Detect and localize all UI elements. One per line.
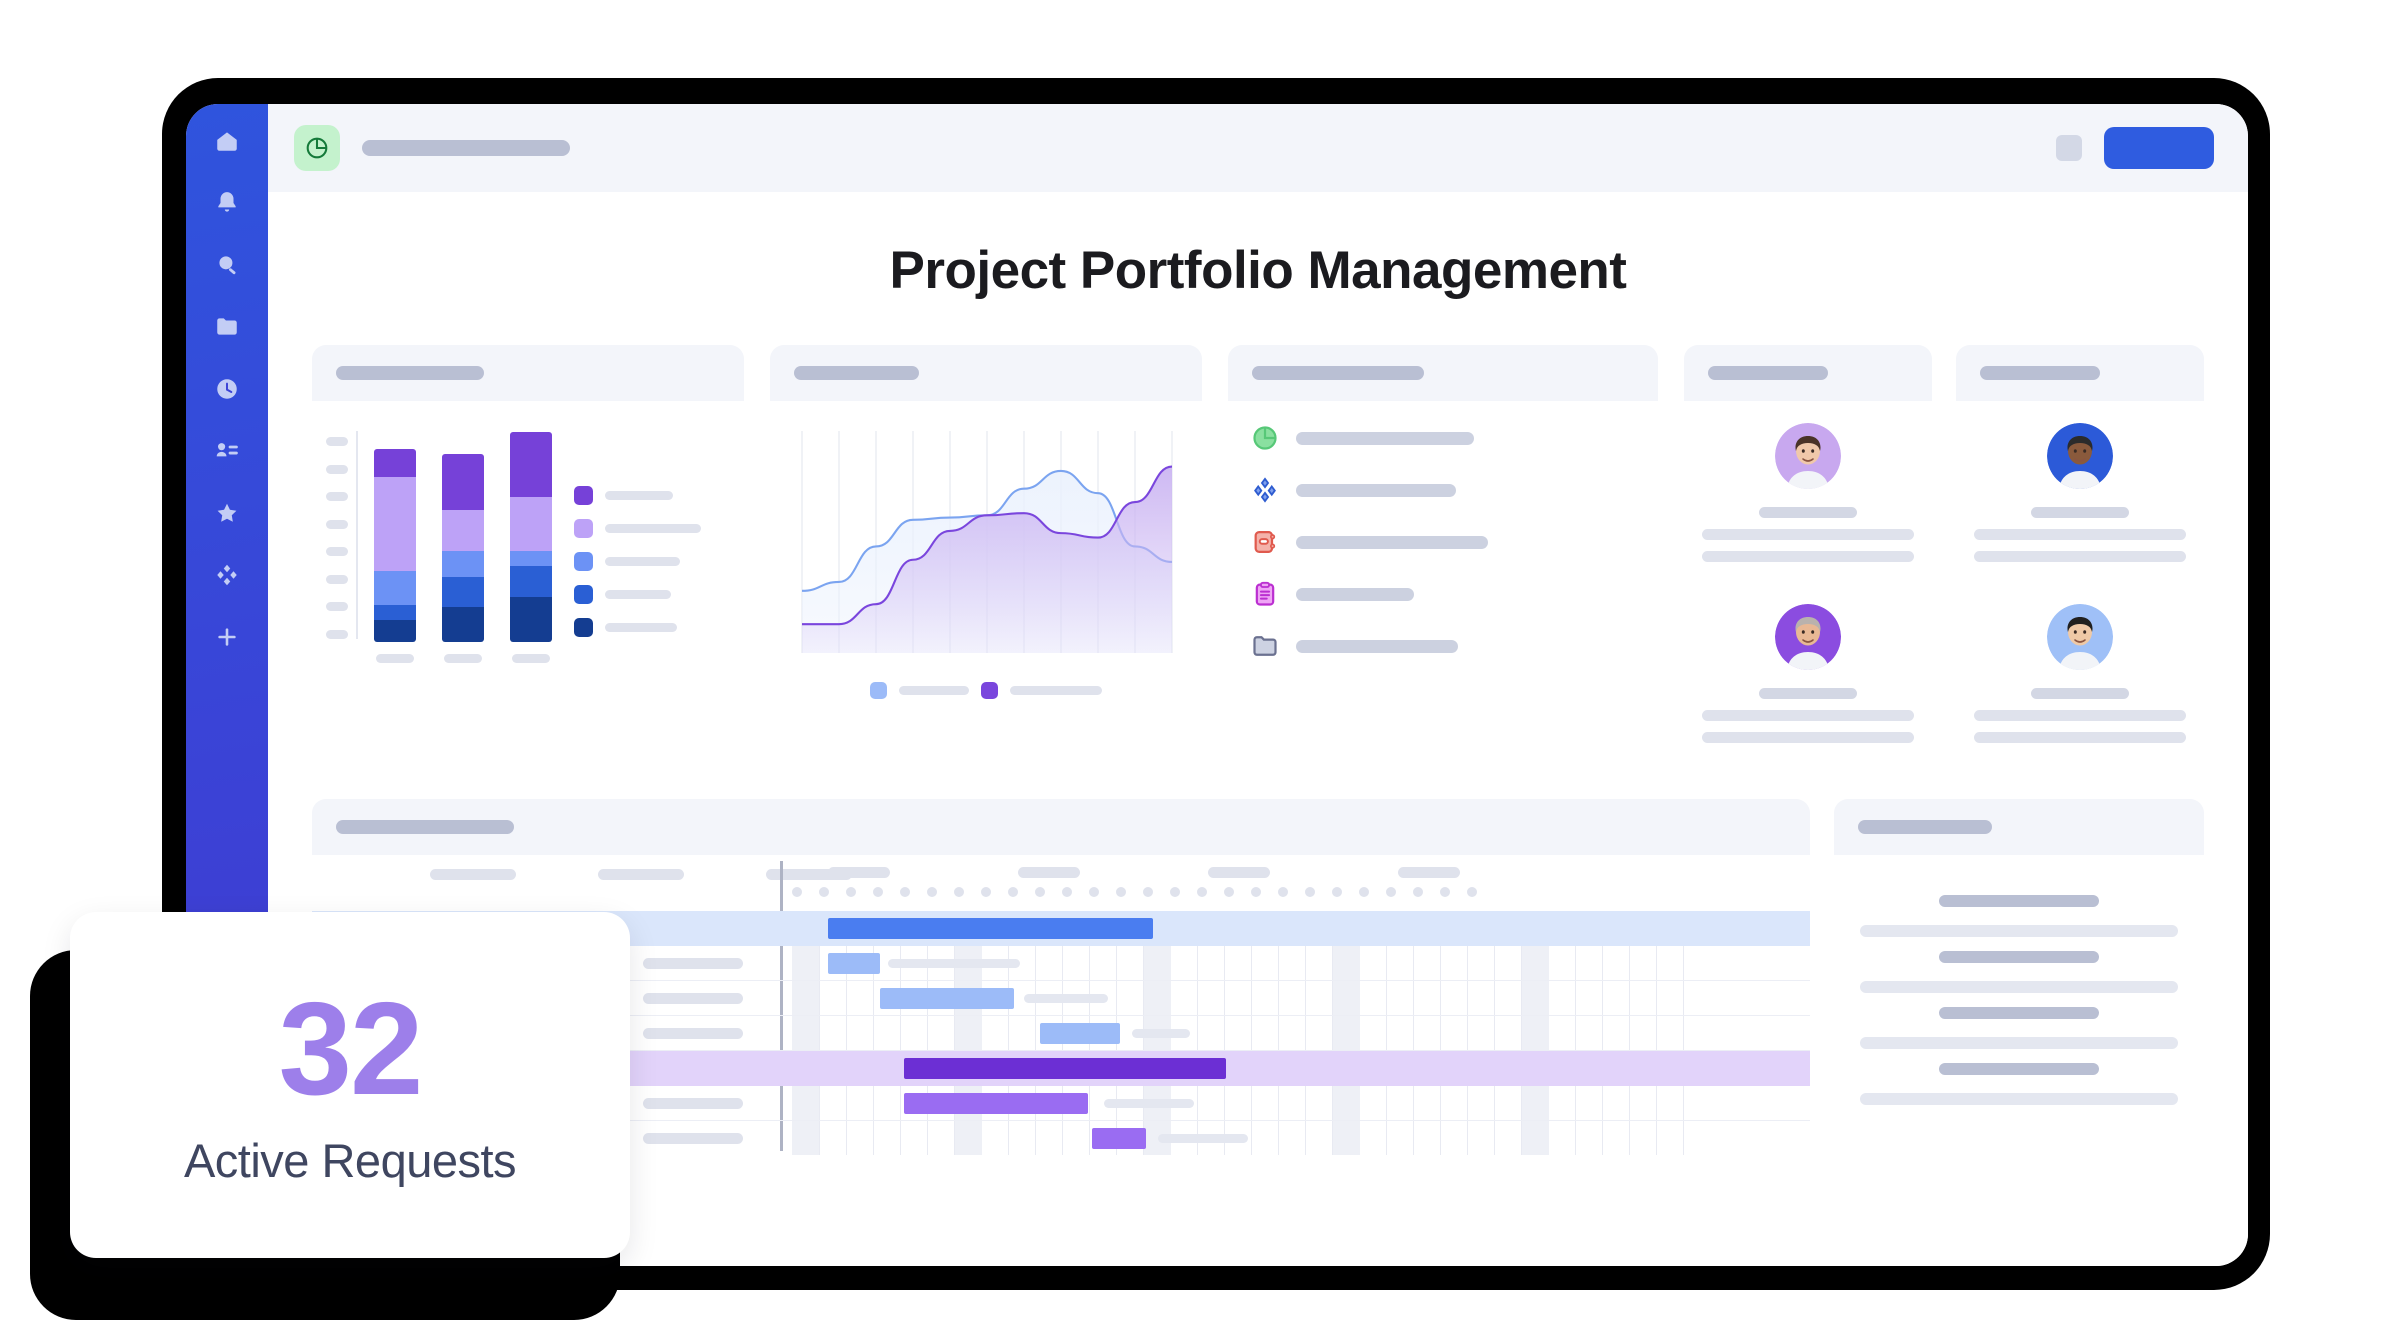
top-bar-actions bbox=[2056, 127, 2214, 169]
list-item[interactable] bbox=[1250, 475, 1634, 505]
side-entry-line-placeholder bbox=[1860, 925, 2178, 937]
gantt-tick bbox=[1413, 887, 1423, 897]
person-name-placeholder bbox=[2031, 507, 2129, 518]
gantt-month-label bbox=[1018, 867, 1080, 878]
legend-label-placeholder bbox=[605, 557, 680, 566]
gantt-month-label bbox=[828, 867, 890, 878]
y-tick bbox=[326, 575, 348, 584]
gantt-bar-label-placeholder bbox=[1158, 1134, 1248, 1143]
gantt-tick bbox=[1116, 887, 1126, 897]
person-name-placeholder bbox=[1759, 688, 1857, 699]
workspace-title-placeholder bbox=[362, 140, 570, 156]
sidebar-item-home[interactable] bbox=[210, 124, 244, 158]
gantt-tick bbox=[927, 887, 937, 897]
legend-swatch bbox=[574, 585, 593, 604]
sidebar-item-files[interactable] bbox=[210, 310, 244, 344]
legend-item[interactable] bbox=[574, 585, 701, 604]
activity-list-body bbox=[1228, 401, 1658, 671]
gantt-cell-assignee bbox=[643, 1098, 743, 1109]
gantt-tick bbox=[1197, 887, 1207, 897]
side-entry-title-placeholder bbox=[1939, 1007, 2099, 1019]
bar-chart-axis-line bbox=[356, 431, 358, 639]
gantt-bar-label-placeholder bbox=[1104, 1099, 1194, 1108]
gantt-bar-label-placeholder bbox=[888, 959, 1020, 968]
clipboard-icon bbox=[1250, 579, 1280, 609]
gantt-tick bbox=[1332, 887, 1342, 897]
notebook-icon bbox=[1250, 527, 1280, 557]
bar-category-label bbox=[376, 654, 414, 663]
gantt-bar[interactable] bbox=[904, 1093, 1088, 1114]
gantt-bar-label-placeholder bbox=[1024, 994, 1108, 1003]
primary-button[interactable] bbox=[2104, 127, 2214, 169]
side-entry-title-placeholder bbox=[1939, 895, 2099, 907]
person-detail-placeholder bbox=[1974, 529, 2186, 540]
gantt-bar-label-placeholder bbox=[1132, 1029, 1190, 1038]
gantt-tick bbox=[1386, 887, 1396, 897]
stacked-bar bbox=[510, 432, 552, 642]
screenshot-stage: Project Portfolio Management bbox=[0, 0, 2388, 1344]
gantt-tick bbox=[1062, 887, 1072, 897]
people-card-header bbox=[1684, 345, 1932, 401]
side-detail-body bbox=[1834, 855, 2204, 1115]
people-icon bbox=[214, 438, 240, 464]
sidebar-item-apps[interactable] bbox=[210, 558, 244, 592]
avatar bbox=[1775, 423, 1841, 489]
y-tick bbox=[326, 465, 348, 474]
gantt-bar[interactable] bbox=[828, 953, 880, 974]
legend-label-placeholder bbox=[1010, 686, 1102, 695]
column-header-placeholder bbox=[598, 869, 684, 880]
bar-segment bbox=[374, 620, 416, 642]
pie-chart-icon bbox=[304, 135, 330, 161]
side-entry-title-placeholder bbox=[1939, 951, 2099, 963]
person-card[interactable] bbox=[1956, 582, 2204, 763]
bar-category-label bbox=[512, 654, 550, 663]
gantt-row-avatar bbox=[640, 916, 665, 941]
sidebar-item-notifications[interactable] bbox=[210, 186, 244, 220]
card-title-placeholder bbox=[1980, 366, 2100, 380]
card-title-placeholder bbox=[794, 366, 919, 380]
bar-segment bbox=[510, 497, 552, 551]
bar-segment bbox=[510, 432, 552, 497]
activity-list-card-header bbox=[1228, 345, 1658, 401]
y-tick bbox=[326, 602, 348, 611]
area-chart-card-header bbox=[770, 345, 1202, 401]
gantt-cell-assignee bbox=[643, 958, 743, 969]
gantt-month-label bbox=[1398, 867, 1460, 878]
legend-label-placeholder bbox=[899, 686, 969, 695]
side-entry-line-placeholder bbox=[1860, 1093, 2178, 1105]
person-detail-placeholder bbox=[1974, 732, 2186, 743]
home-icon bbox=[214, 128, 240, 154]
card-title-placeholder bbox=[336, 366, 484, 380]
gantt-tick bbox=[1170, 887, 1180, 897]
card-title-placeholder bbox=[336, 820, 514, 834]
people-card-header bbox=[1956, 345, 2204, 401]
gantt-tick bbox=[1143, 887, 1153, 897]
card-title-placeholder bbox=[1252, 366, 1424, 380]
clock-icon bbox=[214, 376, 240, 402]
area-chart-card bbox=[770, 345, 1202, 763]
gantt-tick bbox=[981, 887, 991, 897]
person-card[interactable] bbox=[1684, 582, 1932, 763]
side-detail-card-header bbox=[1834, 799, 2204, 855]
avatar bbox=[1775, 604, 1841, 670]
diamond-cluster-icon bbox=[1250, 475, 1280, 505]
bar-segment bbox=[442, 510, 484, 551]
sidebar-item-search[interactable] bbox=[210, 248, 244, 282]
gantt-tick bbox=[1008, 887, 1018, 897]
folder-icon bbox=[214, 314, 240, 340]
people-column-right-body bbox=[1956, 401, 2204, 763]
gantt-tick bbox=[873, 887, 883, 897]
gantt-tick bbox=[954, 887, 964, 897]
bar-segment bbox=[374, 477, 416, 570]
search-icon bbox=[214, 252, 240, 278]
person-detail-placeholder bbox=[1974, 710, 2186, 721]
area-chart-legend bbox=[792, 682, 1180, 699]
bar-segment bbox=[510, 597, 552, 642]
top-bar bbox=[268, 104, 2248, 192]
gantt-column-header[interactable] bbox=[598, 869, 766, 880]
legend-swatch[interactable] bbox=[870, 682, 887, 699]
sidebar-item-people[interactable] bbox=[210, 434, 244, 468]
bar-segment bbox=[374, 571, 416, 606]
card-title-placeholder bbox=[1858, 820, 1992, 834]
legend-label-placeholder bbox=[605, 623, 677, 632]
list-item-label-placeholder bbox=[1296, 588, 1414, 601]
square-button[interactable] bbox=[2056, 135, 2082, 161]
y-tick bbox=[326, 437, 348, 446]
legend-label-placeholder bbox=[605, 590, 671, 599]
gantt-cell-assignee bbox=[643, 1133, 743, 1144]
bar-column[interactable] bbox=[510, 432, 552, 663]
people-column-right bbox=[1956, 345, 2204, 763]
legend-label-placeholder bbox=[605, 524, 701, 533]
legend-swatch bbox=[574, 486, 593, 505]
people-cards bbox=[1684, 345, 2204, 763]
legend-item[interactable] bbox=[574, 552, 701, 571]
people-column-left bbox=[1684, 345, 1932, 763]
list-item[interactable] bbox=[1250, 631, 1634, 661]
list-item-label-placeholder bbox=[1296, 640, 1458, 653]
y-tick bbox=[326, 547, 348, 556]
star-icon bbox=[214, 500, 240, 526]
gantt-tick bbox=[1251, 887, 1261, 897]
activity-list-card bbox=[1228, 345, 1658, 763]
gantt-bar[interactable] bbox=[1040, 1023, 1120, 1044]
sidebar-item-add[interactable] bbox=[210, 620, 244, 654]
gantt-card-header bbox=[312, 799, 1810, 855]
gantt-tick bbox=[1467, 887, 1477, 897]
legend-swatch bbox=[574, 618, 593, 637]
folder-icon bbox=[1250, 631, 1280, 661]
pie-chart-icon bbox=[1250, 423, 1280, 453]
person-name-placeholder bbox=[2031, 688, 2129, 699]
area-chart-body bbox=[770, 401, 1202, 709]
bar-chart-card bbox=[312, 345, 744, 763]
gantt-tick bbox=[1035, 887, 1045, 897]
gantt-tick bbox=[1089, 887, 1099, 897]
active-requests-callout: 32 Active Requests bbox=[70, 912, 630, 1258]
gantt-tick bbox=[1440, 887, 1450, 897]
bar-segment bbox=[442, 607, 484, 642]
gantt-tick bbox=[819, 887, 829, 897]
gantt-tick bbox=[1305, 887, 1315, 897]
plus-icon bbox=[214, 624, 240, 650]
gantt-bar[interactable] bbox=[904, 1058, 1226, 1079]
bar-segment bbox=[374, 605, 416, 620]
gantt-column-header[interactable] bbox=[430, 869, 598, 880]
person-name-placeholder bbox=[1759, 507, 1857, 518]
bar-segment bbox=[442, 454, 484, 510]
avatar bbox=[2047, 604, 2113, 670]
avatar bbox=[2047, 423, 2113, 489]
sidebar-item-favorites[interactable] bbox=[210, 496, 244, 530]
y-tick bbox=[326, 630, 348, 639]
active-requests-count: 32 bbox=[279, 983, 422, 1115]
person-detail-placeholder bbox=[1702, 529, 1914, 540]
bar-chart-body bbox=[312, 401, 744, 669]
gantt-timeline-ticks bbox=[792, 887, 1494, 897]
gantt-tick bbox=[900, 887, 910, 897]
bar-segment bbox=[374, 449, 416, 477]
people-column-left-body bbox=[1684, 401, 1932, 763]
area-chart-svg bbox=[792, 425, 1180, 663]
app-logo bbox=[294, 125, 340, 171]
side-entry-line-placeholder bbox=[1860, 1037, 2178, 1049]
person-detail-placeholder bbox=[1974, 551, 2186, 562]
bar-segment bbox=[442, 551, 484, 577]
bar-chart-y-axis bbox=[326, 431, 348, 663]
bell-icon bbox=[214, 190, 240, 216]
gantt-tick bbox=[792, 887, 802, 897]
legend-item[interactable] bbox=[574, 519, 701, 538]
y-tick bbox=[326, 520, 348, 529]
bar-column[interactable] bbox=[442, 454, 484, 663]
person-card[interactable] bbox=[1684, 401, 1932, 582]
stacked-bar bbox=[442, 454, 484, 642]
list-item[interactable] bbox=[1250, 527, 1634, 557]
side-entry-title-placeholder bbox=[1939, 1063, 2099, 1075]
list-item[interactable] bbox=[1250, 423, 1634, 453]
card-title-placeholder bbox=[1708, 366, 1828, 380]
bar-category-label bbox=[444, 654, 482, 663]
bar-segment bbox=[510, 551, 552, 566]
list-item-label-placeholder bbox=[1296, 484, 1456, 497]
list-item-label-placeholder bbox=[1296, 432, 1474, 445]
gantt-cell-assignee bbox=[643, 1028, 743, 1039]
bar-chart-legend bbox=[574, 431, 701, 663]
bar-segment bbox=[510, 566, 552, 596]
sidebar-item-recent[interactable] bbox=[210, 372, 244, 406]
legend-item[interactable] bbox=[574, 486, 701, 505]
gantt-tick bbox=[1359, 887, 1369, 897]
column-header-placeholder bbox=[430, 869, 516, 880]
person-detail-placeholder bbox=[1702, 710, 1914, 721]
apps-diamond-icon bbox=[214, 562, 240, 588]
list-item[interactable] bbox=[1250, 579, 1634, 609]
bar-chart-plot bbox=[374, 431, 552, 663]
active-requests-label: Active Requests bbox=[184, 1133, 516, 1188]
side-entry-line-placeholder bbox=[1860, 981, 2178, 993]
legend-item[interactable] bbox=[574, 618, 701, 637]
page-title: Project Portfolio Management bbox=[312, 240, 2204, 301]
stacked-bar bbox=[374, 449, 416, 642]
gantt-tick bbox=[1224, 887, 1234, 897]
person-card[interactable] bbox=[1956, 401, 2204, 582]
legend-swatch bbox=[574, 519, 593, 538]
list-item-label-placeholder bbox=[1296, 536, 1488, 549]
bar-column[interactable] bbox=[374, 449, 416, 663]
dashboard-top-row bbox=[312, 345, 2204, 763]
y-tick bbox=[326, 492, 348, 501]
gantt-tick bbox=[846, 887, 856, 897]
legend-label-placeholder bbox=[605, 491, 673, 500]
gantt-cell-assignee bbox=[643, 993, 743, 1004]
gantt-tick bbox=[1278, 887, 1288, 897]
gantt-bar[interactable] bbox=[880, 988, 1014, 1009]
gantt-month-label bbox=[1208, 867, 1270, 878]
gantt-row-avatar bbox=[640, 1056, 665, 1081]
legend-swatch[interactable] bbox=[981, 682, 998, 699]
bar-chart-card-header bbox=[312, 345, 744, 401]
gantt-bar[interactable] bbox=[1092, 1128, 1146, 1149]
bar-segment bbox=[442, 577, 484, 607]
gantt-bar[interactable] bbox=[828, 918, 1153, 939]
legend-swatch bbox=[574, 552, 593, 571]
side-detail-card bbox=[1834, 799, 2204, 1155]
person-detail-placeholder bbox=[1702, 732, 1914, 743]
person-detail-placeholder bbox=[1702, 551, 1914, 562]
